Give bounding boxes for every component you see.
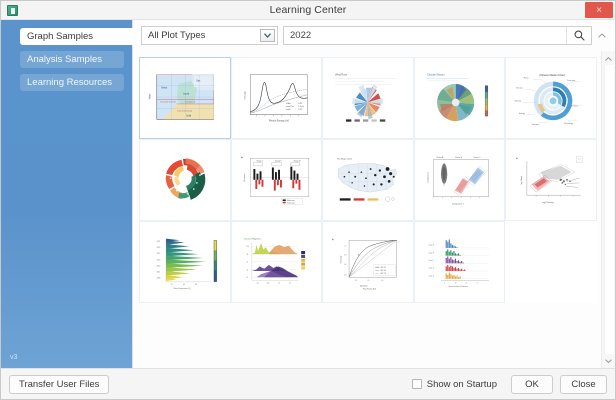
gallery-item-concentric-donut-chart[interactable]: Chinese Market Chart xyxy=(505,57,597,139)
thumbnail-cluster-scatter-plot: Cluster ACluster BCluster C xyxy=(421,147,498,213)
scrollbar-track[interactable] xyxy=(604,65,614,354)
svg-text:75: 75 xyxy=(477,283,479,285)
svg-text:60: 60 xyxy=(246,262,248,264)
thumbnail-grouped-bar-chart: Group IGroup IIGroup III xyxy=(238,147,315,213)
window-body: Graph Samples Analysis Samples Learning … xyxy=(1,20,615,368)
chevron-up-icon[interactable] xyxy=(592,26,612,46)
svg-text:40: 40 xyxy=(246,269,248,271)
svg-text:width: width xyxy=(286,108,291,111)
content-panel: All Plot Types 2022 xyxy=(132,20,615,368)
svg-text:log (Mass): log (Mass) xyxy=(521,176,523,185)
thumb-title: Stacked Ridgelines xyxy=(244,238,261,241)
title-bar: Learning Center × xyxy=(1,1,615,20)
svg-text:Component 1: Component 1 xyxy=(452,203,465,206)
show-on-startup-label: Show on Startup xyxy=(427,379,497,390)
svg-text:25: 25 xyxy=(455,283,457,285)
thumb-title: Circular Sectors xyxy=(427,74,445,77)
sidebar-item-analysis-samples[interactable]: Analysis Samples xyxy=(20,51,124,68)
svg-text:Services: Services xyxy=(516,88,523,90)
legend xyxy=(340,197,395,202)
gallery-item-circular-sector-chart[interactable]: Circular Sectors xyxy=(414,57,506,139)
svg-text:2019: 2019 xyxy=(157,247,161,249)
gallery-item-zone-region-plot[interactable]: MetalLiquid GasSolid Transition Zone ATr… xyxy=(139,57,231,139)
svg-text:Solid: Solid xyxy=(186,115,192,117)
svg-text:0.8: 0.8 xyxy=(345,255,347,257)
svg-text:Specificity: Specificity xyxy=(360,285,368,288)
search-icon[interactable] xyxy=(567,27,591,44)
transfer-user-files-button[interactable]: Transfer User Files xyxy=(9,375,109,394)
svg-text:1.0: 1.0 xyxy=(345,246,347,248)
learning-center-window: Learning Center × Graph Samples Analysis… xyxy=(0,0,616,400)
plot-type-select[interactable]: All Plot Types xyxy=(141,26,278,45)
thumb-title: Wind Rose xyxy=(336,74,349,77)
sidebar-item-label: Analysis Samples xyxy=(27,54,102,65)
sidebar-item-label: Graph Samples xyxy=(27,31,93,42)
svg-text:0.2: 0.2 xyxy=(356,280,358,282)
svg-text:Group D: Group D xyxy=(429,267,434,270)
thumbnail-ridgeline-violin-plot: 202120192017 201520132011 2009 204060 Me… xyxy=(146,229,223,295)
footer-bar: Transfer User Files Show on Startup OK C… xyxy=(1,368,615,399)
sidebar-item-label: Learning Resources xyxy=(27,77,112,88)
gallery-item-polar-wind-rose-chart[interactable]: Wind Rose xyxy=(322,57,414,139)
thumbnail-concentric-donut-chart: Chinese Market Chart xyxy=(513,65,590,131)
svg-text:peak Pos: peak Pos xyxy=(286,106,294,108)
svg-text:Mean Temperature (C): Mean Temperature (C) xyxy=(174,287,191,290)
window-close-button[interactable]: × xyxy=(585,2,613,18)
svg-text:Critical Boundary: Critical Boundary xyxy=(177,110,192,113)
close-button[interactable]: Close xyxy=(560,375,607,394)
ok-button[interactable]: OK xyxy=(511,375,553,394)
gallery-item-us-map-bubble-chart[interactable]: The Maps Chart xyxy=(322,139,414,221)
svg-text:0.4: 0.4 xyxy=(345,264,347,266)
svg-text:Group E: Group E xyxy=(429,275,434,278)
show-on-startup-checkbox-row[interactable]: Show on Startup xyxy=(412,379,497,390)
svg-text:20: 20 xyxy=(171,284,173,286)
colorbar xyxy=(214,240,217,282)
svg-text:2017: 2017 xyxy=(157,253,161,255)
svg-text:0.5: 0.5 xyxy=(368,280,370,282)
thumbnail-polar-wind-rose-chart: Wind Rose xyxy=(329,65,406,131)
svg-text:Retail: Retail xyxy=(523,77,528,80)
svg-text:Group B: Group B xyxy=(429,252,434,255)
gallery-item-stacked-ridgeline-plot[interactable]: Stacked Ridgelines xyxy=(231,221,323,303)
legend xyxy=(301,251,305,269)
thumbnail-zone-region-plot: MetalLiquid GasSolid Transition Zone ATr… xyxy=(146,65,223,131)
thumbnail-circular-sector-chart: Circular Sectors xyxy=(421,65,498,131)
svg-text:Transition Zone A: Transition Zone A xyxy=(160,101,176,104)
thumbnail-us-map-bubble-chart: The Maps Chart xyxy=(329,147,406,213)
svg-text:Group II: Group II xyxy=(275,161,282,163)
svg-text:Liquid: Liquid xyxy=(183,94,190,96)
svg-text:40: 40 xyxy=(183,284,185,286)
thumbnail-density-scatter-plot: log (Density) log (Mass) xyxy=(513,147,590,213)
search-field[interactable]: 2022 xyxy=(283,26,592,45)
svg-text:Cluster C: Cluster C xyxy=(473,156,481,159)
gallery-item-ridgeline-violin-plot[interactable]: 202120192017 201520132011 2009 204060 Me… xyxy=(139,221,231,303)
svg-text:Value: Value xyxy=(150,93,152,99)
svg-text:Consumer: Consumer xyxy=(567,80,576,82)
gallery-area: MetalLiquid GasSolid Transition Zone ATr… xyxy=(133,51,615,368)
gallery-item-cluster-scatter-plot[interactable]: Cluster ACluster BCluster C xyxy=(414,139,506,221)
svg-text:Jul: Jul xyxy=(278,283,280,285)
svg-text:Metal: Metal xyxy=(162,87,168,90)
window-title: Learning Center xyxy=(1,4,615,16)
thumbnail-spectral-line-plot: 1 Abs0.82 peak Pos1.3 eV width0.41 Phot xyxy=(238,65,315,131)
svg-text:Group III: Group III xyxy=(293,161,301,163)
thumb-title: The Maps Chart xyxy=(337,158,353,161)
svg-text:2009: 2009 xyxy=(157,278,161,280)
svg-text:Cluster B: Cluster B xyxy=(455,156,463,159)
gallery-scrollbar[interactable] xyxy=(601,51,615,368)
svg-text:Apr: Apr xyxy=(267,282,270,285)
svg-text:Component 2: Component 2 xyxy=(427,172,430,183)
svg-text:False Positive Rate: False Positive Rate xyxy=(363,288,376,291)
svg-text:50: 50 xyxy=(466,283,468,285)
app-logo-icon xyxy=(7,5,18,16)
svg-text:1 Abs: 1 Abs xyxy=(286,102,291,105)
version-label: v3 xyxy=(10,354,17,361)
svg-text:Below avg: Below avg xyxy=(287,203,294,205)
thumbnail-red-green-radial-chart xyxy=(146,147,223,213)
svg-text:Intensity: Intensity xyxy=(244,91,247,100)
legend: AUC .92 AUC .86 AUC .78 xyxy=(374,265,396,276)
colorbar xyxy=(485,86,488,117)
gallery-item-multi-histogram-plot[interactable]: Group AGroup BGroup C Group DGroup E 025… xyxy=(414,221,506,303)
gallery-item-spectral-line-plot[interactable]: 1 Abs0.82 peak Pos1.3 eV width0.41 Phot xyxy=(231,57,323,139)
svg-text:Group I: Group I xyxy=(256,161,263,163)
svg-text:Measured Value Distribution: Measured Value Distribution xyxy=(449,285,468,288)
gallery-item-roc-curve-plot[interactable]: A AUC .92 AUC .86 AUC .78 xyxy=(322,221,414,303)
thumbnail-multi-histogram-plot: Group AGroup BGroup C Group DGroup E 025… xyxy=(421,229,498,295)
svg-text:2011: 2011 xyxy=(157,272,160,274)
svg-text:Transition B: Transition B xyxy=(185,101,196,104)
svg-text:2015: 2015 xyxy=(157,259,161,261)
svg-text:Sensitivity: Sensitivity xyxy=(340,256,343,264)
legend xyxy=(346,120,385,122)
legend: Above avg Below avg xyxy=(281,198,303,204)
svg-text:0.8: 0.8 xyxy=(382,280,384,282)
svg-text:Photon Energy (eV): Photon Energy (eV) xyxy=(269,120,289,123)
svg-text:0: 0 xyxy=(444,283,445,285)
svg-text:Cluster A: Cluster A xyxy=(436,156,444,159)
gallery-item-empty xyxy=(505,221,597,303)
svg-text:log (Density): log (Density) xyxy=(542,201,554,204)
svg-text:Group C: Group C xyxy=(429,259,434,262)
gallery-item-grouped-bar-chart[interactable]: Group IGroup IIGroup III xyxy=(231,139,323,221)
svg-text:Industry: Industry xyxy=(514,100,521,103)
svg-text:Finance: Finance xyxy=(571,105,578,107)
svg-text:80: 80 xyxy=(246,254,248,256)
gallery-item-density-scatter-plot[interactable]: log (Density) log (Mass) xyxy=(505,139,597,221)
chevron-down-icon[interactable] xyxy=(603,355,615,366)
svg-text:2021: 2021 xyxy=(157,241,161,243)
svg-text:Group A: Group A xyxy=(429,244,434,247)
sample-gallery: MetalLiquid GasSolid Transition Zone ATr… xyxy=(133,51,601,368)
toolbar: All Plot Types 2022 xyxy=(133,20,615,51)
svg-text:Technology: Technology xyxy=(564,123,573,125)
svg-text:2013: 2013 xyxy=(157,266,161,268)
svg-text:100: 100 xyxy=(246,246,249,248)
svg-text:60: 60 xyxy=(196,284,198,286)
chevron-down-icon[interactable] xyxy=(260,29,275,42)
svg-text:0.0: 0.0 xyxy=(345,275,347,277)
sidebar-item-graph-samples[interactable]: Graph Samples xyxy=(20,28,134,45)
svg-text:1.3 eV: 1.3 eV xyxy=(298,106,304,108)
svg-text:Jan: Jan xyxy=(256,283,258,285)
svg-text:20: 20 xyxy=(246,277,248,279)
svg-text:Transport: Transport xyxy=(531,123,539,126)
chevron-up-icon[interactable] xyxy=(603,53,615,64)
show-on-startup-checkbox[interactable] xyxy=(412,379,422,389)
thumb-title: Chinese Market Chart xyxy=(539,73,565,77)
sidebar: Graph Samples Analysis Samples Learning … xyxy=(1,20,132,368)
search-input[interactable]: 2022 xyxy=(284,30,566,41)
sidebar-item-learning-resources[interactable]: Learning Resources xyxy=(20,74,124,91)
thumbnail-roc-curve-plot: A AUC .92 AUC .86 AUC .78 xyxy=(329,229,406,295)
thumbnail-stacked-ridgeline-plot: Stacked Ridgelines xyxy=(238,229,315,295)
svg-text:Energy: Energy xyxy=(519,113,525,115)
gallery-item-red-green-radial-chart[interactable] xyxy=(139,139,231,221)
svg-text:Oct: Oct xyxy=(289,282,292,285)
svg-text:Deviation: Deviation xyxy=(243,174,246,182)
plot-type-select-value: All Plot Types xyxy=(148,30,205,41)
